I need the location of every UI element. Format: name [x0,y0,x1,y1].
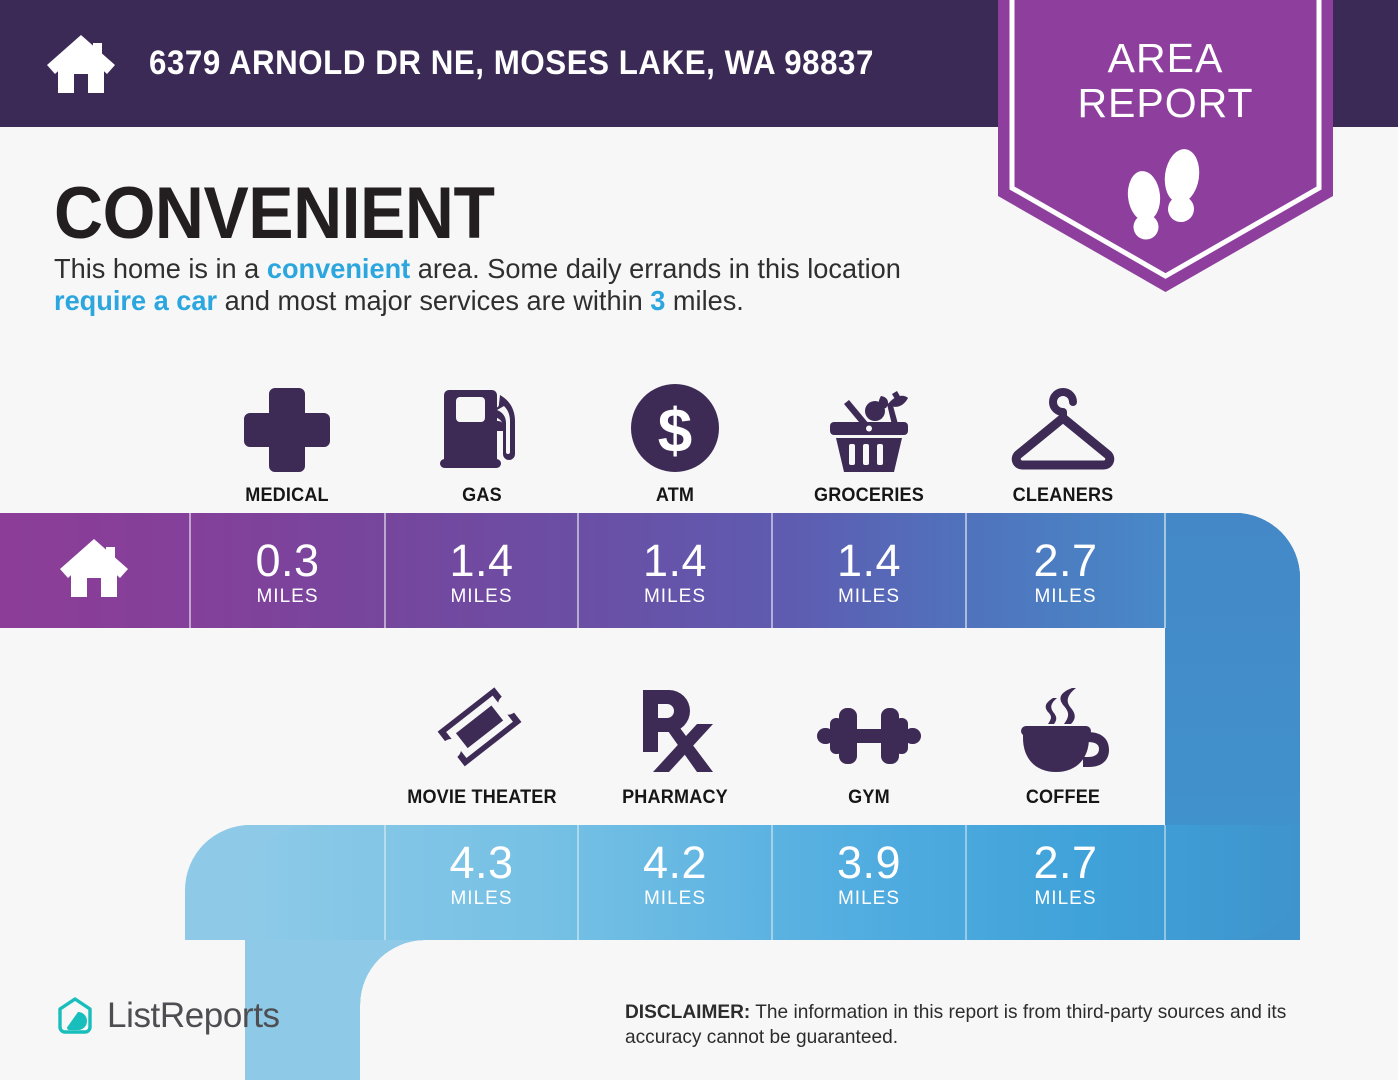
distance-cell: 4.3 MILES [385,840,578,910]
rx-icon [578,684,772,776]
property-address: 6379 ARNOLD DR NE, MOSES LAKE, WA 98837 [149,44,874,83]
subtitle-highlight-3: 3 [650,285,665,316]
distance-value: 2.7 [966,840,1165,885]
page-subtitle: This home is in a convenient area. Some … [54,253,927,317]
movie-ticket-icon [385,684,579,776]
distance-cell: 1.4 MILES [385,538,578,608]
distance-unit: MILES [578,888,772,910]
subtitle-text-3: and most major services are within [217,285,650,316]
distance-value: 1.4 [578,538,772,583]
area-report-badge: AREA REPORT [998,0,1333,292]
distance-cell: 0.3 MILES [190,538,385,608]
distance-cell: 4.2 MILES [578,840,772,910]
distance-cell: 2.7 MILES [966,538,1165,608]
disclaimer: DISCLAIMER: The information in this repo… [625,1000,1336,1050]
subtitle-text-1: This home is in a [54,253,267,284]
distance-unit: MILES [772,888,966,910]
distance-unit: MILES [385,888,578,910]
amenity-coffee: COFFEE [966,684,1160,809]
distance-cell: 1.4 MILES [772,538,966,608]
distance-value: 4.2 [578,840,772,885]
area-report-infographic: 6379 ARNOLD DR NE, MOSES LAKE, WA 98837 … [0,0,1398,1080]
distance-cell: 3.9 MILES [772,840,966,910]
page-title: CONVENIENT [54,172,494,255]
amenity-gym: GYM [772,684,966,809]
distance-value: 4.3 [385,840,578,885]
subtitle-text-4: miles. [665,285,743,316]
gas-pump-icon [385,382,579,474]
medical-cross-icon [190,382,384,474]
amenity-movie-theater: MOVIE THEATER [385,684,579,809]
amenity-medical: MEDICAL [190,382,384,507]
distance-unit: MILES [190,586,385,608]
distance-value: 3.9 [772,840,966,885]
logo-text: ListReports [107,996,280,1036]
amenity-groceries: GROCERIES [772,382,966,507]
amenity-label: GYM [777,787,961,809]
amenity-label: MOVIE THEATER [390,787,574,809]
home-icon [45,33,117,95]
amenity-label: MEDICAL [195,485,379,507]
listreports-logo: ListReports [56,996,280,1036]
svg-text:$: $ [658,397,692,466]
distance-unit: MILES [578,586,772,608]
grocery-basket-icon [772,382,966,474]
subtitle-highlight-2: require a car [54,285,217,316]
badge-title: AREA REPORT [998,36,1333,126]
distance-unit: MILES [385,586,578,608]
coffee-cup-icon [966,684,1160,776]
amenity-label: COFFEE [971,787,1155,809]
amenity-label: GROCERIES [777,485,961,507]
dumbbell-icon [772,684,966,776]
amenity-cleaners: CLEANERS [966,382,1160,507]
subtitle-text-2: area. Some daily errands in this locatio… [410,253,901,284]
distance-cell: 1.4 MILES [578,538,772,608]
distance-unit: MILES [772,586,966,608]
listreports-house-icon [56,996,94,1036]
badge-line-1: AREA [998,36,1333,81]
hanger-icon [966,382,1160,474]
amenity-label: CLEANERS [971,485,1155,507]
amenity-gas: GAS [385,382,579,507]
distance-cell: 2.7 MILES [966,840,1165,910]
distance-unit: MILES [966,586,1165,608]
amenity-label: ATM [583,485,767,507]
badge-line-2: REPORT [998,81,1333,126]
disclaimer-label: DISCLAIMER: [625,1001,750,1023]
distance-value: 1.4 [385,538,578,583]
amenity-label: PHARMACY [583,787,767,809]
atm-dollar-icon: $ [578,382,772,474]
distance-value: 0.3 [190,538,385,583]
amenity-pharmacy: PHARMACY [578,684,772,809]
distance-value: 1.4 [772,538,966,583]
subtitle-highlight-1: convenient [267,253,410,284]
distance-unit: MILES [966,888,1165,910]
distance-value: 2.7 [966,538,1165,583]
amenity-label: GAS [390,485,574,507]
amenity-atm: $ ATM [578,382,772,507]
